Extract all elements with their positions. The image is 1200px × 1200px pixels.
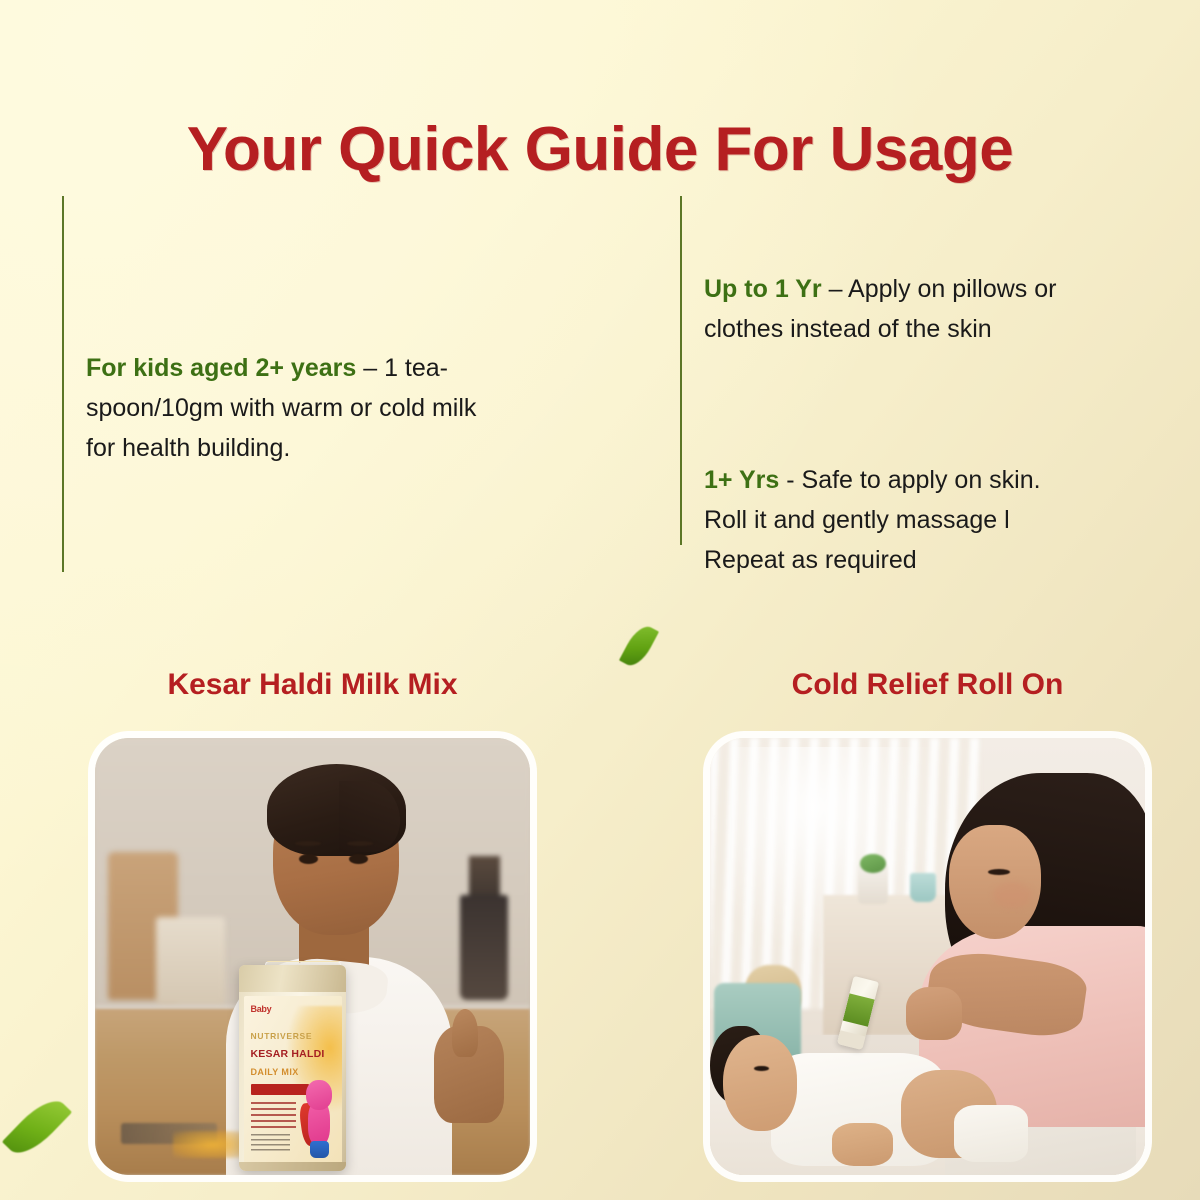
page-title: Your Quick Guide For Usage [0, 114, 1200, 185]
vertical-divider-right [680, 196, 682, 545]
product-photo-card-kesar-haldi-milk-mix: Baby NUTRIVERSE KESAR HALDI DAILY MIX [95, 738, 530, 1175]
jar-label-detail-lines [251, 1134, 290, 1151]
mother-face [949, 825, 1040, 939]
boy-eyebrow-left [295, 841, 321, 846]
jar-range-name: NUTRIVERSE [251, 1031, 313, 1041]
instruction-kids-2plus-label: For kids aged 2+ years [86, 354, 356, 382]
baby-arm [832, 1123, 893, 1167]
instructions-column-left: For kids aged 2+ years – 1 tea-spoon/10g… [62, 190, 582, 572]
mother-hand-holding-roll-on [906, 987, 963, 1039]
baby-head [723, 1035, 797, 1131]
thumbs-up-icon [452, 1009, 478, 1057]
jar-brand-name: Baby [251, 1004, 272, 1014]
mascot-head [306, 1080, 332, 1109]
instructions-column-right: Up to 1 Yr – Apply on pillows or clothes… [680, 190, 1150, 545]
jar-label-strip [251, 1084, 310, 1096]
usage-guide-page: Your Quick Guide For Usage For kids aged… [0, 0, 1200, 1200]
jar-label: Baby NUTRIVERSE KESAR HALDI DAILY MIX [244, 996, 342, 1164]
jar-lid [239, 965, 346, 992]
product-photo-card-cold-relief-roll-on [710, 738, 1145, 1175]
background-board [156, 917, 226, 1004]
jar-base [239, 1162, 346, 1170]
instruction-upto-1yr-label: Up to 1 Yr [704, 275, 822, 303]
jar-product-name: KESAR HALDI [251, 1048, 325, 1060]
jar-label-benefit-lines [251, 1102, 296, 1129]
boy-drinking-milk-photo: Baby NUTRIVERSE KESAR HALDI DAILY MIX [95, 738, 530, 1175]
baby-diaper [954, 1105, 1028, 1162]
leaf-icon [2, 1091, 72, 1162]
product-jar: Baby NUTRIVERSE KESAR HALDI DAILY MIX [239, 965, 346, 1170]
instruction-upto-1yr: Up to 1 Yr – Apply on pillows or clothes… [704, 269, 1084, 349]
boy-eye-left [299, 854, 318, 864]
instruction-1plus-yrs: 1+ Yrs - Safe to apply on skin. Roll it … [704, 460, 1086, 580]
boy-eye-right [349, 854, 368, 864]
product-title-kesar-haldi-milk-mix: Kesar Haldi Milk Mix [95, 668, 530, 702]
mother-applying-roll-on-to-baby-photo [710, 738, 1145, 1175]
boy-eyebrow-right [347, 841, 373, 846]
instruction-1plus-yrs-label: 1+ Yrs [704, 466, 779, 494]
boy-hair [267, 764, 406, 856]
product-title-cold-relief-roll-on: Cold Relief Roll On [710, 668, 1145, 702]
mug [910, 873, 936, 901]
instructions-section: For kids aged 2+ years – 1 tea-spoon/10g… [0, 190, 1200, 590]
instruction-kids-2plus: For kids aged 2+ years – 1 tea-spoon/10g… [86, 348, 478, 468]
vertical-divider-left [62, 196, 64, 572]
jar-mascot-icon [303, 1080, 338, 1157]
background-utensil-holder [460, 895, 508, 1000]
mascot-legs [310, 1141, 328, 1158]
leaf-icon [619, 621, 659, 670]
jar-product-variant: DAILY MIX [251, 1067, 299, 1077]
